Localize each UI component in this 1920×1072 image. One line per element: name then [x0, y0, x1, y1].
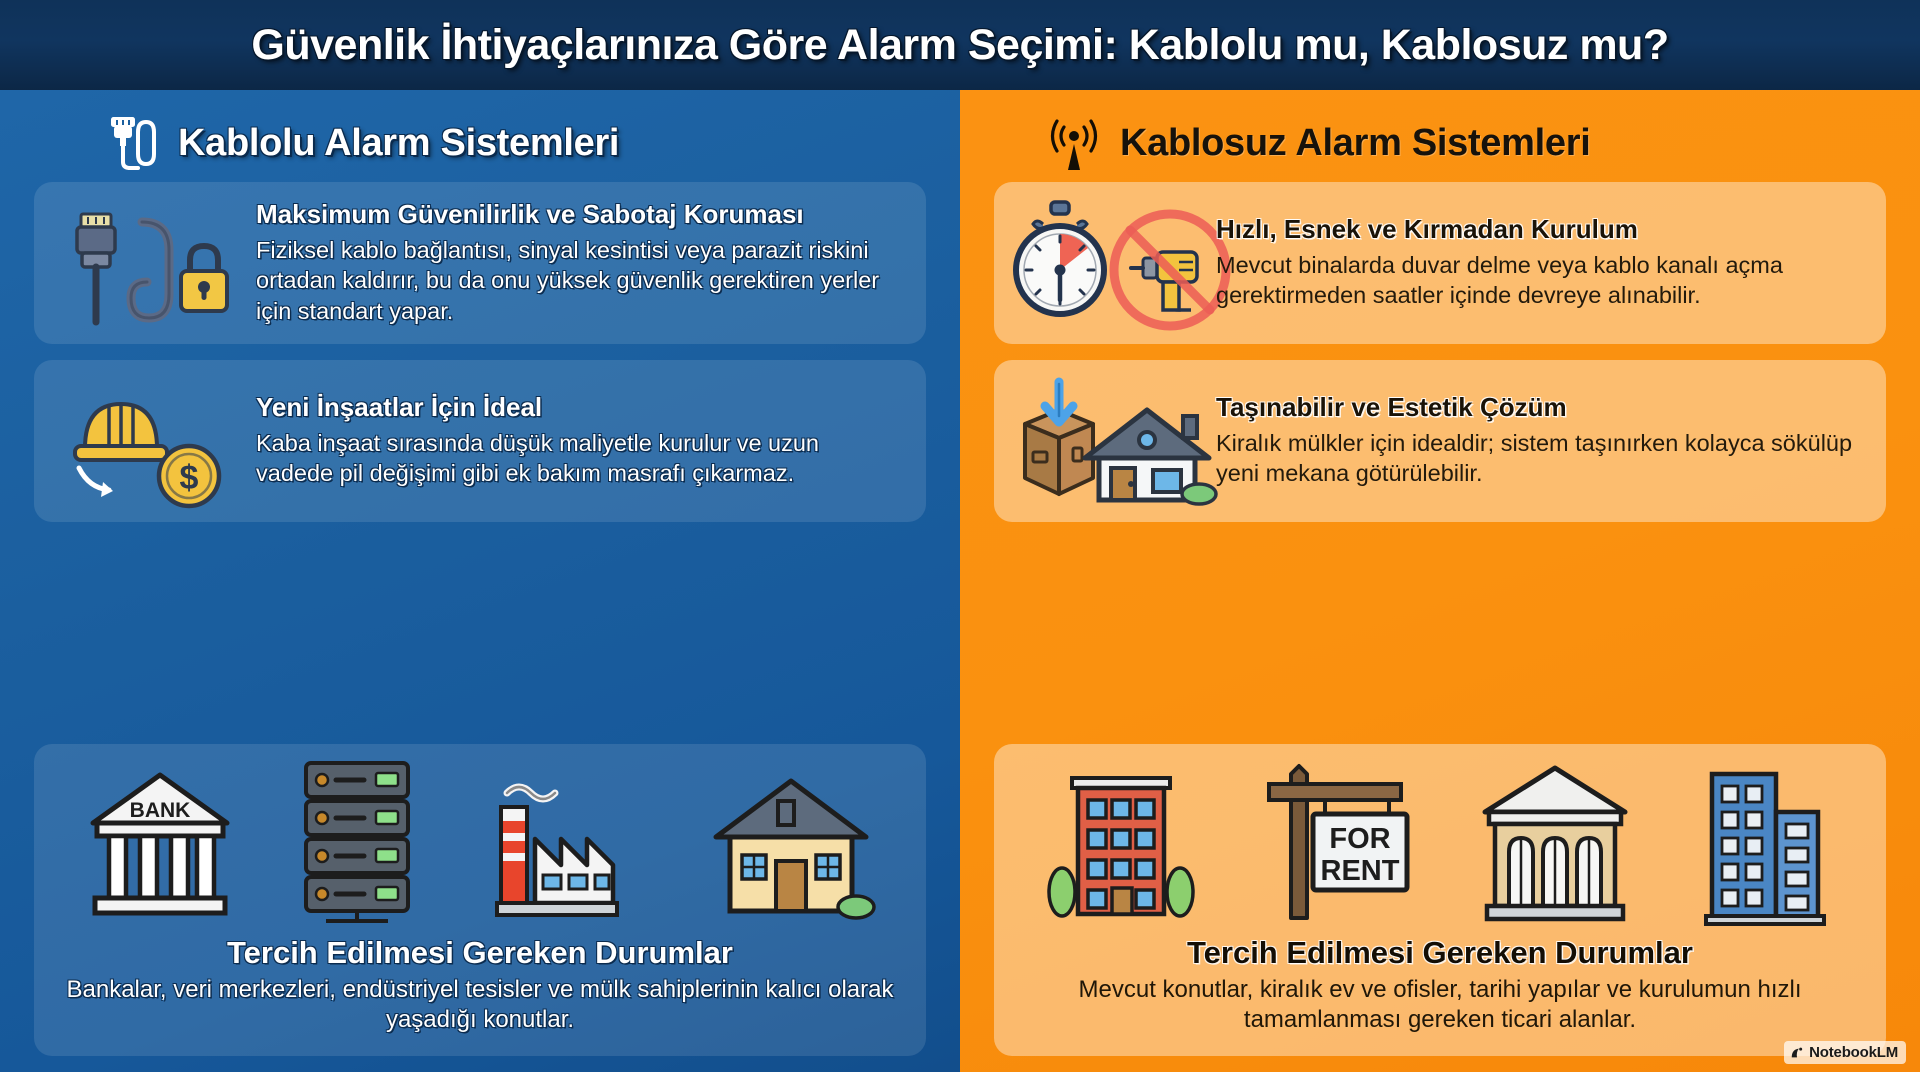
notebooklm-watermark: NotebookLM — [1784, 1041, 1906, 1064]
notebooklm-icon — [1790, 1046, 1804, 1060]
wired-card-1-icons — [52, 198, 252, 328]
wireless-use-cases-desc: Mevcut konutlar, kiralık ev ve ofisler, … — [1016, 975, 1864, 1036]
wired-use-cases-panel: BANK — [34, 744, 926, 1056]
wireless-card-1-desc: Mevcut binalarda duvar delme veya kablo … — [1216, 250, 1860, 311]
notebooklm-label: NotebookLM — [1809, 1044, 1898, 1061]
wired-use-case-icons: BANK — [56, 760, 904, 925]
wireless-column: Kablosuz Alarm Sistemleri — [960, 90, 1920, 1072]
title-bar: Güvenlik İhtiyaçlarınıza Göre Alarm Seçi… — [0, 0, 1920, 90]
svg-text:$: $ — [180, 459, 199, 497]
wired-card-reliability: Maksimum Güvenilirlik ve Sabotaj Korumas… — [34, 182, 926, 344]
wireless-use-cases-title: Tercih Edilmesi Gereken Durumlar — [1016, 935, 1864, 971]
wired-column-header: Kablolu Alarm Sistemleri — [34, 104, 926, 182]
historic-building-icon — [1475, 760, 1635, 925]
wireless-use-case-icons: FOR RENT — [1016, 760, 1864, 925]
wired-use-cases-desc: Bankalar, veri merkezleri, endüstriyel t… — [56, 975, 904, 1036]
wireless-card-2-icons — [1012, 376, 1212, 506]
wireless-card-portable: Taşınabilir ve Estetik Çözüm Kiralık mül… — [994, 360, 1886, 522]
wired-card-1-body: Maksimum Güvenilirlik ve Sabotaj Korumas… — [256, 200, 900, 326]
wired-card-1-desc: Fiziksel kablo bağlantısı, sinyal kesint… — [256, 235, 900, 326]
infographic-root: Güvenlik İhtiyaçlarınıza Göre Alarm Seçi… — [0, 0, 1920, 1072]
wireless-card-2-title: Taşınabilir ve Estetik Çözüm — [1216, 393, 1860, 423]
wireless-signal-icon — [1046, 114, 1102, 172]
wired-column: Kablolu Alarm Sistemleri — [0, 90, 960, 1072]
apartment-building-icon — [1046, 760, 1196, 925]
wired-card-2-body: Yeni İnşaatlar İçin İdeal Kaba inşaat sı… — [256, 393, 900, 489]
wireless-use-cases-panel: FOR RENT — [994, 744, 1886, 1056]
wireless-card-1-body: Hızlı, Esnek ve Kırmadan Kurulum Mevcut … — [1216, 215, 1860, 311]
wired-header-title: Kablolu Alarm Sistemleri — [178, 122, 619, 165]
wireless-card-1-icons — [1012, 198, 1212, 328]
office-tower-icon — [1694, 760, 1834, 925]
factory-icon — [479, 765, 649, 925]
wired-card-1-title: Maksimum Güvenilirlik ve Sabotaj Korumas… — [256, 200, 900, 230]
wired-card-2-title: Yeni İnşaatlar İçin İdeal — [256, 393, 900, 423]
wireless-card-2-body: Taşınabilir ve Estetik Çözüm Kiralık mül… — [1216, 393, 1860, 489]
wired-use-cases-title: Tercih Edilmesi Gereken Durumlar — [56, 935, 904, 971]
for-rent-line2: RENT — [1321, 855, 1400, 887]
for-rent-sign-icon: FOR RENT — [1255, 760, 1415, 925]
plug-cable-icon — [104, 114, 160, 172]
comparison-columns: Kablolu Alarm Sistemleri — [0, 90, 1920, 1072]
wireless-card-fast-install: Hızlı, Esnek ve Kırmadan Kurulum Mevcut … — [994, 182, 1886, 344]
for-rent-line1: FOR — [1330, 823, 1391, 855]
house-icon — [706, 765, 876, 925]
wired-card-2-desc: Kaba inşaat sırasında düşük maliyetle ku… — [256, 428, 900, 489]
wired-card-new-construction: $ Yeni İnşaatlar İçin İdeal Kaba inşaat … — [34, 360, 926, 522]
wireless-header-title: Kablosuz Alarm Sistemleri — [1120, 122, 1590, 165]
bank-icon: BANK — [85, 765, 235, 925]
wireless-column-header: Kablosuz Alarm Sistemleri — [994, 104, 1886, 182]
bank-label: BANK — [129, 799, 190, 822]
server-rack-icon — [292, 755, 422, 925]
wired-card-2-icons: $ — [52, 376, 252, 506]
wireless-card-2-desc: Kiralık mülkler için idealdir; sistem ta… — [1216, 428, 1860, 489]
page-title: Güvenlik İhtiyaçlarınıza Göre Alarm Seçi… — [251, 21, 1668, 70]
wireless-card-1-title: Hızlı, Esnek ve Kırmadan Kurulum — [1216, 215, 1860, 245]
